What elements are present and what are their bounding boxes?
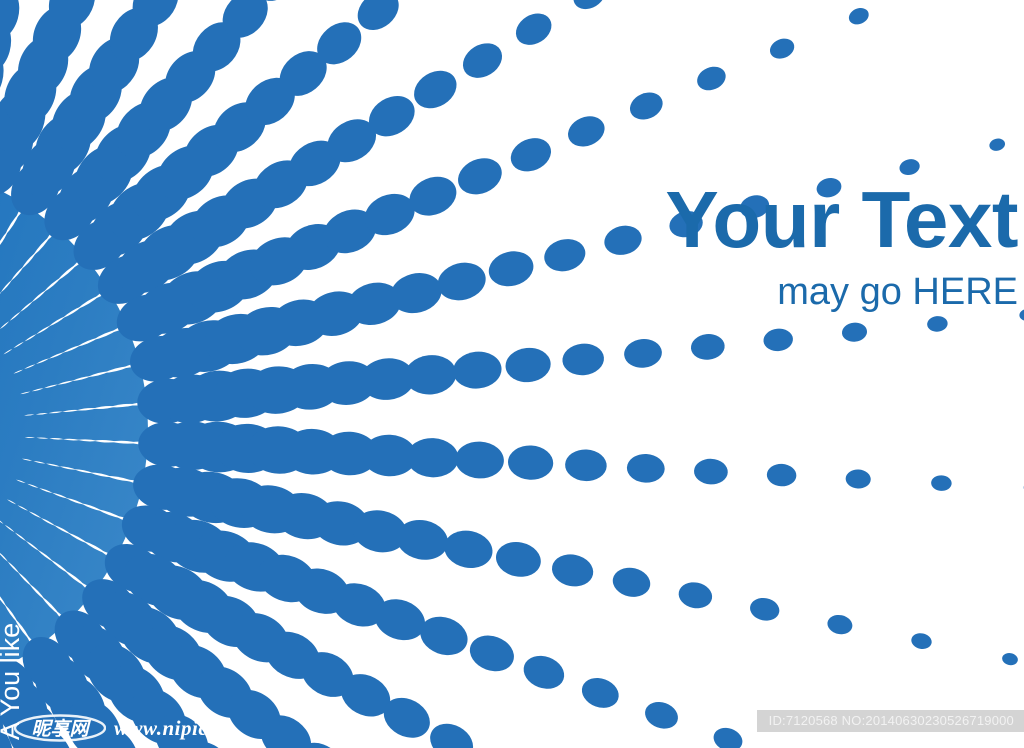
id-strip: ID:7120568 NO:20140630230526719000 <box>757 710 1024 732</box>
halftone-dot-field <box>0 0 1024 748</box>
headline-block: Your Text may go HERE <box>458 182 1018 311</box>
poster-canvas: Your Text may go HERE or here A You like… <box>0 0 1024 748</box>
nipic-logo-text: 昵享网 <box>31 718 91 740</box>
watermark-url: www.nipic.cn <box>114 716 236 741</box>
page-title: Your Text <box>458 182 1018 259</box>
watermark: 昵享网 www.nipic.cn <box>14 714 236 742</box>
nipic-logo-icon: 昵享网 <box>14 714 106 742</box>
halftone-artwork <box>0 0 1024 748</box>
page-subtitle: may go HERE <box>458 273 1018 311</box>
